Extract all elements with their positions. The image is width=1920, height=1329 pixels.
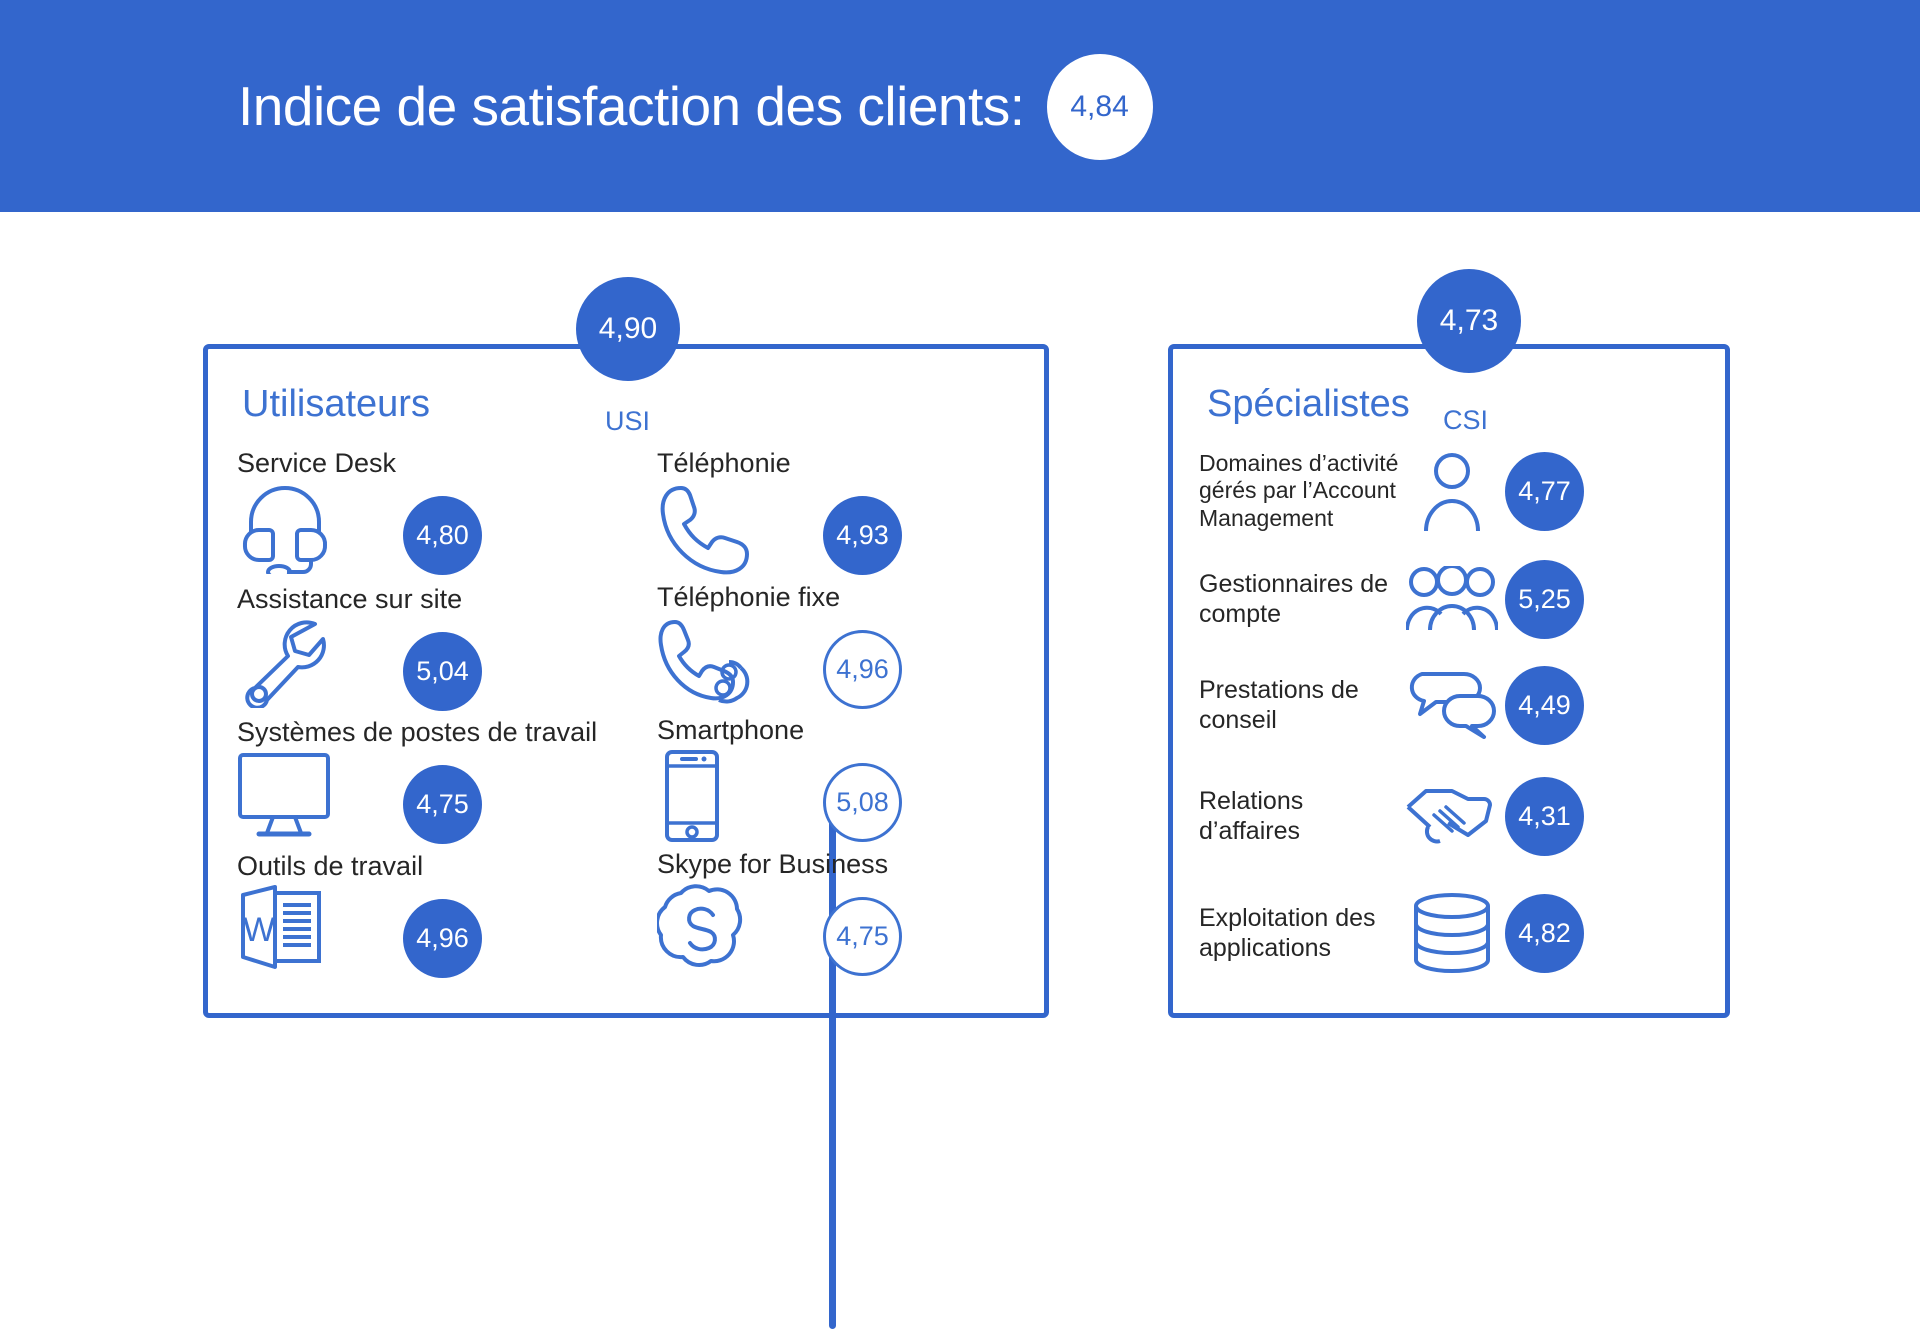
desk-phone-icon [657,616,753,710]
score-badge: 5,25 [1505,560,1584,639]
smartphone-icon [657,749,727,843]
row-gestionnaires-compte: Gestionnaires de compte 5,25 [1199,551,1699,647]
score-badge: 4,96 [403,899,482,978]
usi-score-badge: 4,90 [576,277,680,381]
item-label: Service Desk [237,448,396,480]
panel-title-specialistes: Spécialistes [1207,385,1410,423]
score-badge: 4,49 [1505,666,1584,745]
row-label: Gestionnaires de compte [1199,569,1404,629]
panel-title-utilisateurs: Utilisateurs [242,385,430,423]
handshake-icon [1404,785,1499,847]
score-badge: 4,77 [1505,452,1584,531]
skype-icon [657,883,749,973]
row-label: Prestations de conseil [1199,675,1404,735]
score-badge: 4,93 [823,496,902,575]
speech-bubbles-icon [1404,670,1499,740]
item-label: Outils de travail [237,851,423,883]
item-label: Assistance sur site [237,584,462,616]
score-badge: 4,80 [403,496,482,575]
score-badge: 5,08 [823,763,902,842]
score-badge: 4,96 [823,630,902,709]
item-label: Téléphonie [657,448,791,480]
wrench-icon [237,618,329,708]
item-label: Téléphonie fixe [657,582,840,614]
headset-icon [237,482,333,574]
row-label: Relations d’affaires [1199,786,1404,846]
row-exploitation-applications: Exploitation des applications 4,82 [1199,885,1699,981]
row-prestations-conseil: Prestations de conseil 4,49 [1199,657,1699,753]
svg-text:W: W [243,911,275,949]
row-label: Domaines d’activité gérés par l’Account … [1199,450,1404,531]
score-badge: 5,04 [403,632,482,711]
item-label: Systèmes de postes de travail [237,717,597,749]
score-badge: 4,31 [1505,777,1584,856]
people-group-icon [1404,566,1499,632]
csi-group-code-label: CSI [1443,407,1488,434]
phone-handset-icon [657,482,753,576]
database-icon [1404,892,1499,974]
score-badge: 4,75 [823,897,902,976]
header-content: Indice de satisfaction des clients: 4,84 [238,52,1153,160]
item-label: Smartphone [657,715,804,747]
monitor-icon [237,751,337,839]
word-document-icon: W [237,885,337,975]
page-title: Indice de satisfaction des clients: [238,79,1025,134]
csi-score-badge: 4,73 [1417,269,1521,373]
person-icon [1404,451,1499,531]
usi-group-code-label: USI [605,408,650,435]
row-domaines-activite: Domaines d’activité gérés par l’Account … [1199,443,1699,539]
score-badge: 4,75 [403,765,482,844]
row-label: Exploitation des applications [1199,903,1404,963]
header-banner: Indice de satisfaction des clients: 4,84 [0,0,1920,212]
score-badge: 4,82 [1505,894,1584,973]
row-relations-affaires: Relations d’affaires 4,31 [1199,768,1699,864]
item-label: Skype for Business [657,849,888,881]
overall-score-badge: 4,84 [1047,54,1153,160]
